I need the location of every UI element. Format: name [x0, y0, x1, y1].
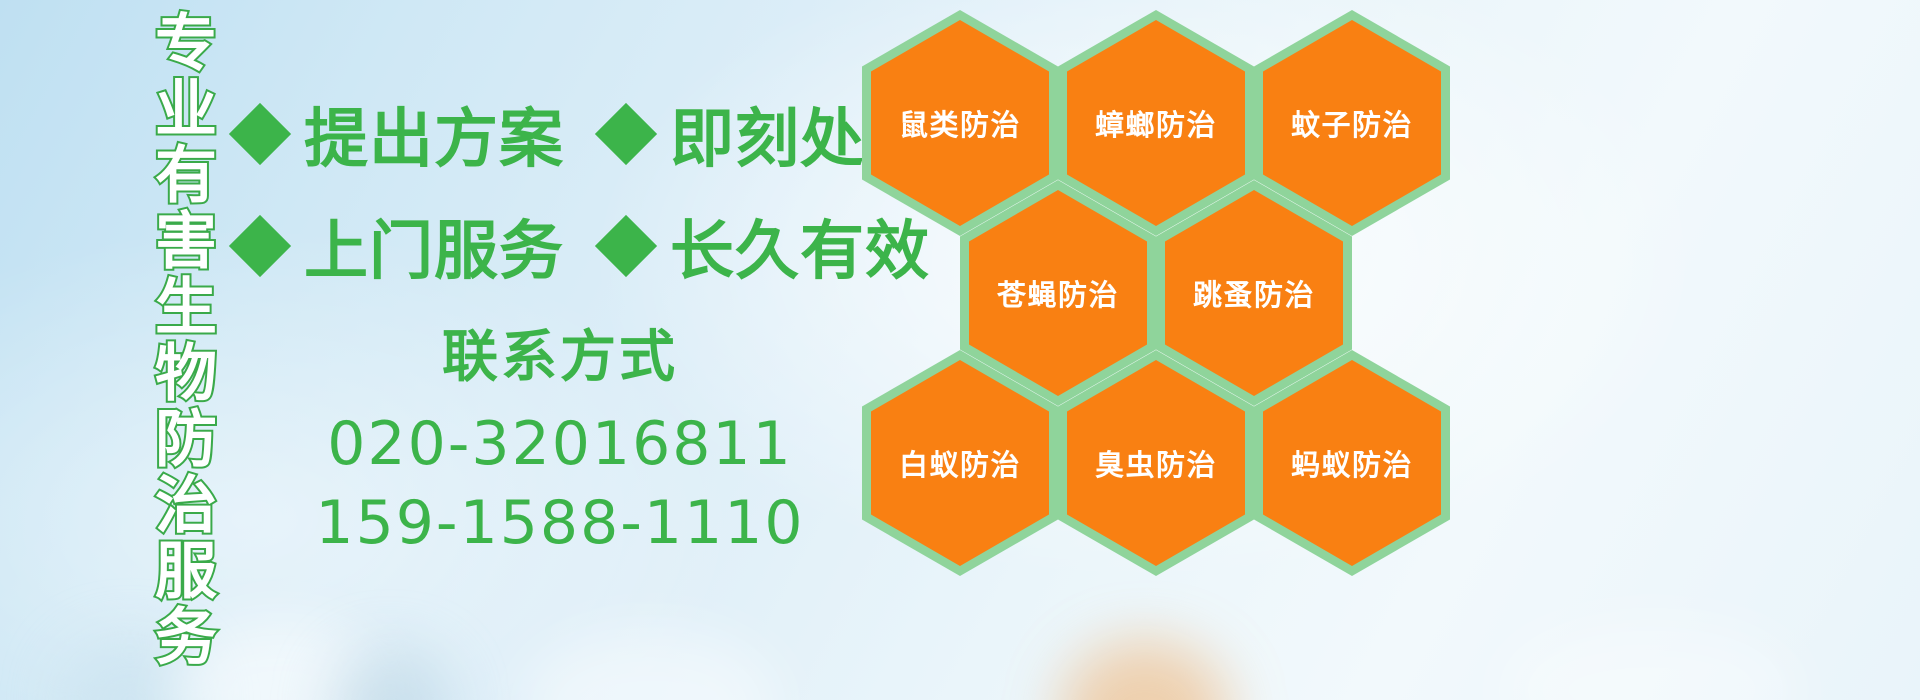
feature-item-door-to-door-service: 上门服务: [238, 200, 564, 292]
pest-control-banner: 专业有害生物防治服务 提出方案 即刻处理 上门服务 长久有效 联系方式 0: [0, 0, 1920, 700]
service-honeycomb: 鼠类防治 蟑螂防治 蚊子防治 苍蝇防治 跳蚤防治 白蚁防治 臭虫防治 蚂蚁: [862, 0, 1462, 564]
feature-list: 提出方案 即刻处理 上门服务 长久有效: [238, 78, 878, 302]
bokeh-blob: [520, 630, 780, 700]
feature-item-propose-plan: 提出方案: [238, 88, 564, 180]
diamond-icon: [229, 215, 291, 277]
service-label: 蚊子防治: [1291, 102, 1413, 144]
diamond-icon: [595, 215, 657, 277]
feature-label: 上门服务: [304, 200, 564, 292]
contact-phone-landline[interactable]: 020-32016811: [300, 405, 820, 484]
service-label: 白蚁防治: [899, 442, 1021, 484]
diamond-icon: [595, 103, 657, 165]
service-label: 鼠类防治: [899, 102, 1021, 144]
vertical-title: 专业有害生物防治服务: [108, 10, 212, 670]
service-label: 苍蝇防治: [997, 272, 1119, 314]
service-label: 蚂蚁防治: [1291, 442, 1413, 484]
feature-row: 提出方案 即刻处理: [238, 78, 878, 190]
bokeh-blob: [330, 650, 450, 700]
feature-row: 上门服务 长久有效: [238, 190, 878, 302]
bokeh-blob: [1060, 640, 1230, 700]
service-label: 臭虫防治: [1095, 442, 1217, 484]
service-label: 蟑螂防治: [1095, 102, 1217, 144]
contact-title: 联系方式: [300, 312, 820, 393]
feature-label: 提出方案: [304, 88, 564, 180]
contact-phone-mobile[interactable]: 159-1588-1110: [300, 484, 820, 563]
bokeh-blob: [1500, 620, 1800, 700]
contact-block: 联系方式 020-32016811 159-1588-1110: [300, 312, 820, 563]
diamond-icon: [229, 103, 291, 165]
service-label: 跳蚤防治: [1193, 272, 1315, 314]
